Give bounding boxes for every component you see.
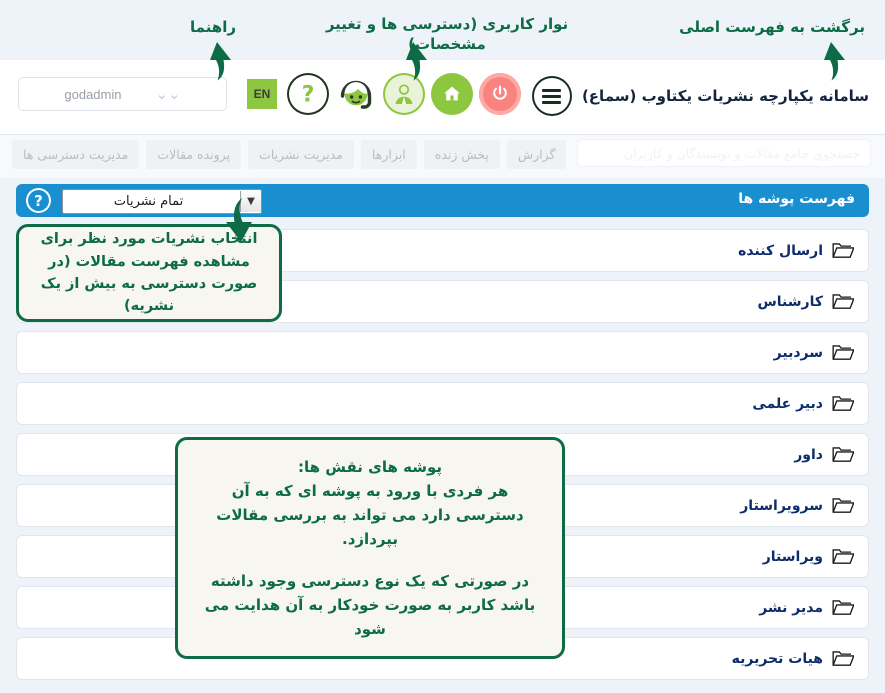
- folder-label: داور: [794, 447, 823, 463]
- search-placeholder-text: جستجوی جامع مقالات و نویسندگان و کاربران: [624, 146, 860, 161]
- callout-roles-line2: در صورتی که یک نوع دسترسی وجود داشته باش…: [196, 569, 544, 641]
- folder-icon: [832, 599, 854, 616]
- folder-icon: [832, 344, 854, 361]
- callout-spacer: [196, 551, 544, 569]
- folder-label: کارشناس: [757, 294, 823, 310]
- brand-title: سامانه یکپارچه نشریات یکتاوب (سماع): [582, 87, 869, 105]
- folder-icon: [832, 242, 854, 259]
- folder-row-editor-in-chief[interactable]: سردبیر: [16, 331, 869, 374]
- folder-icon: [832, 650, 854, 667]
- tab-access-management[interactable]: مدیریت دسترسی ها: [12, 140, 139, 169]
- top-header: ? EN ⌄⌄ godadmin سامانه یکپارچه نشریات ی…: [0, 60, 885, 135]
- tab-list: گزارش پخش زنده ابزارها مدیریت نشریات پرو…: [12, 140, 566, 169]
- annotation-back-to-main-label: برگشت به فهرست اصلی: [679, 18, 865, 37]
- folder-label: مدیر نشر: [759, 600, 823, 616]
- power-icon[interactable]: [479, 73, 521, 115]
- folders-panel-header: فهرست پوشه ها ? ▼ تمام نشریات: [16, 184, 869, 217]
- header-left-toolbar: ? EN ⌄⌄ godadmin: [18, 73, 521, 115]
- folder-icon: [832, 395, 854, 412]
- folder-icon: [832, 497, 854, 514]
- folder-label: ارسال کننده: [738, 243, 823, 259]
- folder-row-scientific-secretary[interactable]: دبیر علمی: [16, 382, 869, 425]
- annotation-help-label: راهنما: [190, 18, 236, 37]
- tab-journal-management[interactable]: مدیریت نشریات: [248, 140, 354, 169]
- header-right-brand: سامانه یکپارچه نشریات یکتاوب (سماع): [532, 76, 869, 116]
- svg-text:?: ?: [302, 83, 315, 108]
- tab-article-files[interactable]: پرونده مقالات: [146, 140, 241, 169]
- folder-icon: [832, 446, 854, 463]
- user-account-dropdown[interactable]: ⌄⌄ godadmin: [18, 77, 227, 111]
- hamburger-menu-icon[interactable]: [532, 76, 572, 116]
- folder-icon: [832, 293, 854, 310]
- tab-tools[interactable]: ابزارها: [361, 140, 417, 169]
- callout-roles-title: پوشه های نقش ها:: [196, 455, 544, 479]
- profile-icon[interactable]: [383, 73, 425, 115]
- callout-journal-select: انتخاب نشریات مورد نظر برای مشاهده فهرست…: [16, 224, 282, 322]
- journal-select-dropdown[interactable]: ▼ تمام نشریات: [62, 189, 262, 214]
- page-title: فهرست پوشه ها: [738, 191, 855, 207]
- help-question-icon[interactable]: ?: [287, 73, 329, 115]
- folder-label: دبیر علمی: [752, 396, 823, 412]
- support-headset-icon[interactable]: [335, 73, 377, 115]
- callout-journal-text: انتخاب نشریات مورد نظر برای مشاهده فهرست…: [31, 228, 267, 318]
- annotation-user-bar-label: نوار کاربری (دسترسی ها و تغییر مشخصات): [292, 14, 602, 55]
- tab-report[interactable]: گزارش: [507, 140, 567, 169]
- username-label: godadmin: [64, 87, 121, 102]
- folder-label: سرویراستار: [740, 498, 823, 514]
- journal-select-value: تمام نشریات: [63, 194, 240, 209]
- folder-label: ویراستار: [763, 549, 823, 565]
- callout-roles-line1: هر فردی با ورود به پوشه ای که به آن دستر…: [196, 479, 544, 551]
- folder-label: هیات تحریریه: [732, 651, 823, 667]
- question-mark-icon[interactable]: ?: [26, 188, 51, 213]
- language-toggle-button[interactable]: EN: [247, 79, 277, 109]
- home-icon[interactable]: [431, 73, 473, 115]
- global-search-input[interactable]: جستجوی جامع مقالات و نویسندگان و کاربران: [577, 139, 871, 167]
- tab-live-broadcast[interactable]: پخش زنده: [424, 140, 500, 169]
- chevron-down-icon[interactable]: ▼: [240, 191, 261, 212]
- main-tab-strip: گزارش پخش زنده ابزارها مدیریت نشریات پرو…: [0, 134, 885, 178]
- callout-role-folders: پوشه های نقش ها: هر فردی با ورود به پوشه…: [175, 437, 565, 659]
- folder-label: سردبیر: [774, 345, 823, 361]
- chevron-down-icon: ⌄⌄: [155, 87, 180, 102]
- folder-icon: [832, 548, 854, 565]
